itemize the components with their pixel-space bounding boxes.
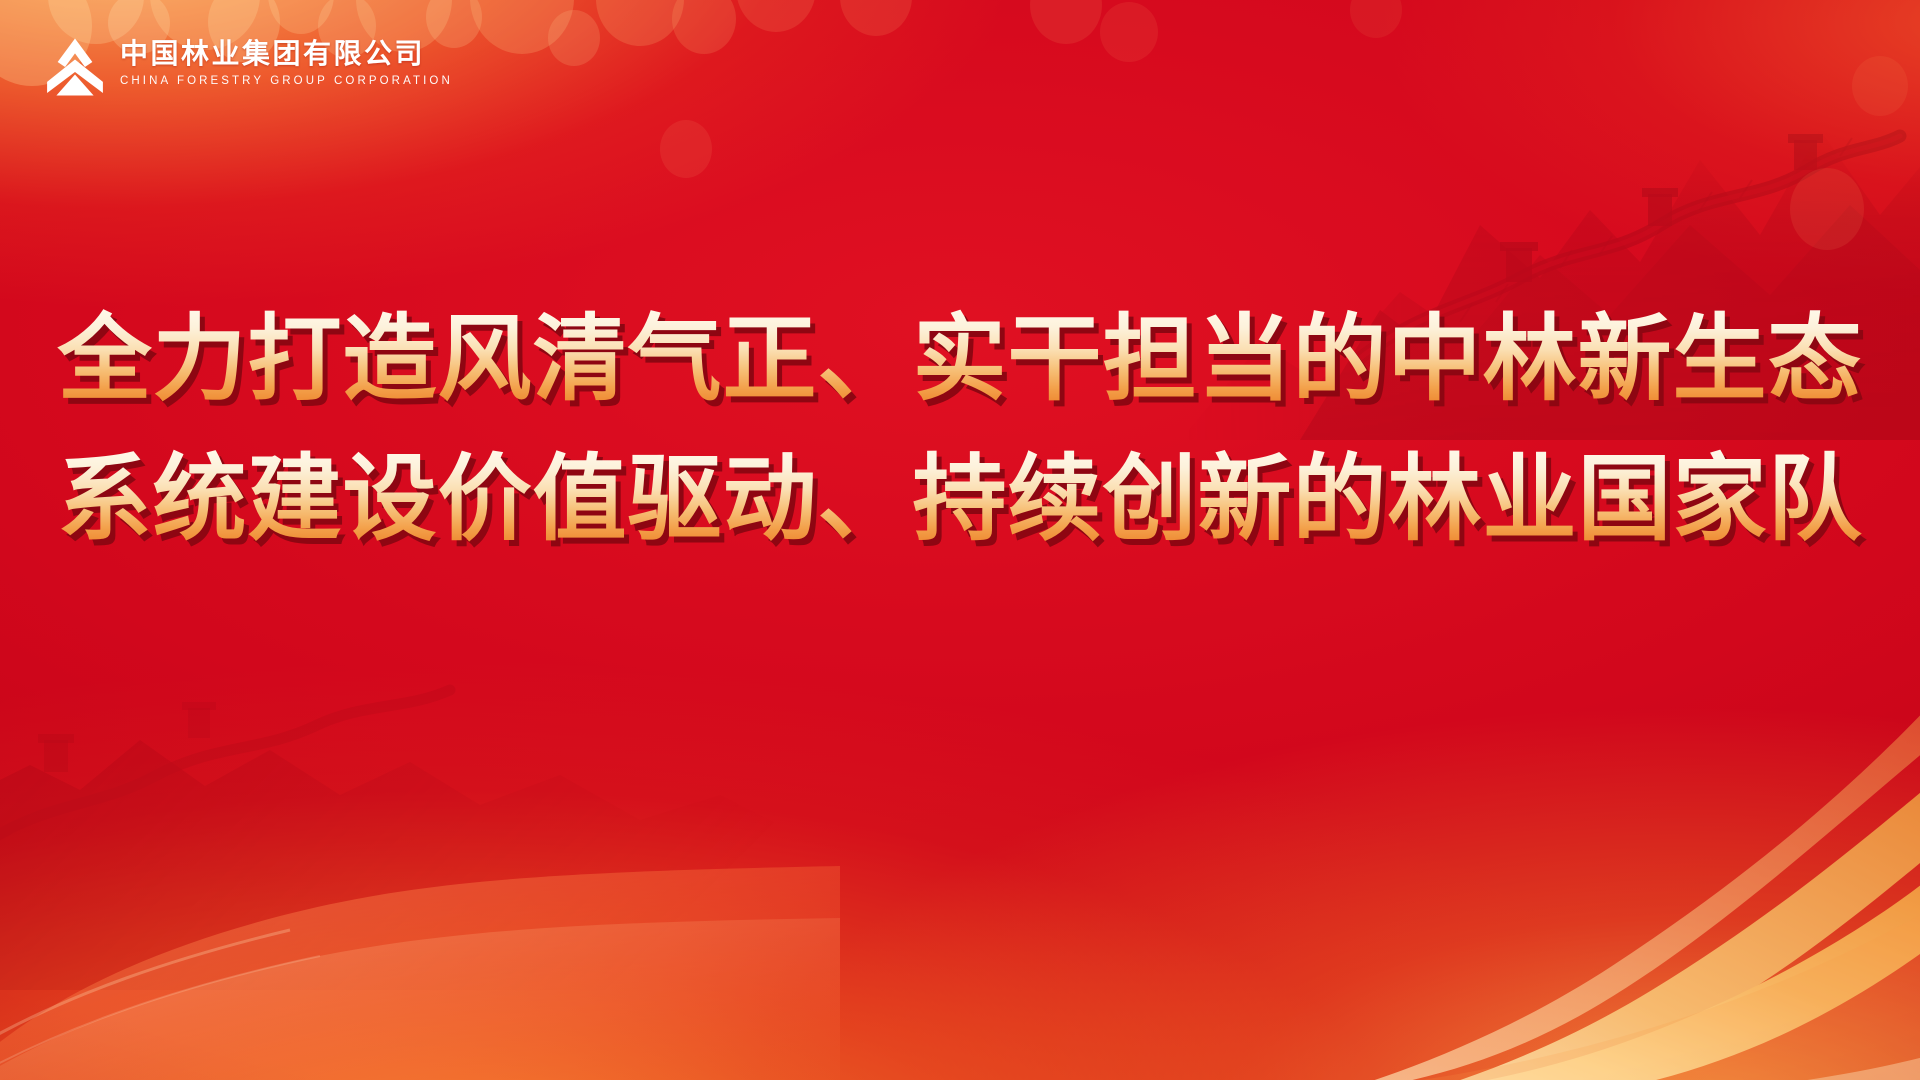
silk-wave-decoration [0, 690, 840, 1080]
slogan-line-2-text: 系统建设价值驱动、持续创新的林业国家队 [57, 446, 1862, 551]
golden-ribbon-decoration [900, 580, 1920, 1080]
slogan-headline: 全力打造风清气正、实干担当的中林新生态 全力打造风清气正、实干担当的中林新生态 … [0, 296, 1920, 562]
banner-canvas: 中国林业集团有限公司 CHINA FORESTRY GROUP CORPORAT… [0, 0, 1920, 1080]
slogan-line-1: 全力打造风清气正、实干担当的中林新生态 全力打造风清气正、实干担当的中林新生态 [42, 296, 1878, 422]
slogan-line-2: 系统建设价值驱动、持续创新的林业国家队 系统建设价值驱动、持续创新的林业国家队 [42, 436, 1878, 562]
slogan-line-1-text: 全力打造风清气正、实干担当的中林新生态 [57, 306, 1862, 411]
cfgc-mountain-chevron-logo-icon [44, 36, 106, 98]
brand-name-cn: 中国林业集团有限公司 [120, 37, 453, 70]
brand-logo-text: 中国林业集团有限公司 CHINA FORESTRY GROUP CORPORAT… [120, 34, 453, 89]
brand-logo[interactable]: 中国林业集团有限公司 CHINA FORESTRY GROUP CORPORAT… [44, 34, 453, 98]
brand-name-en: CHINA FORESTRY GROUP CORPORATION [120, 75, 453, 89]
